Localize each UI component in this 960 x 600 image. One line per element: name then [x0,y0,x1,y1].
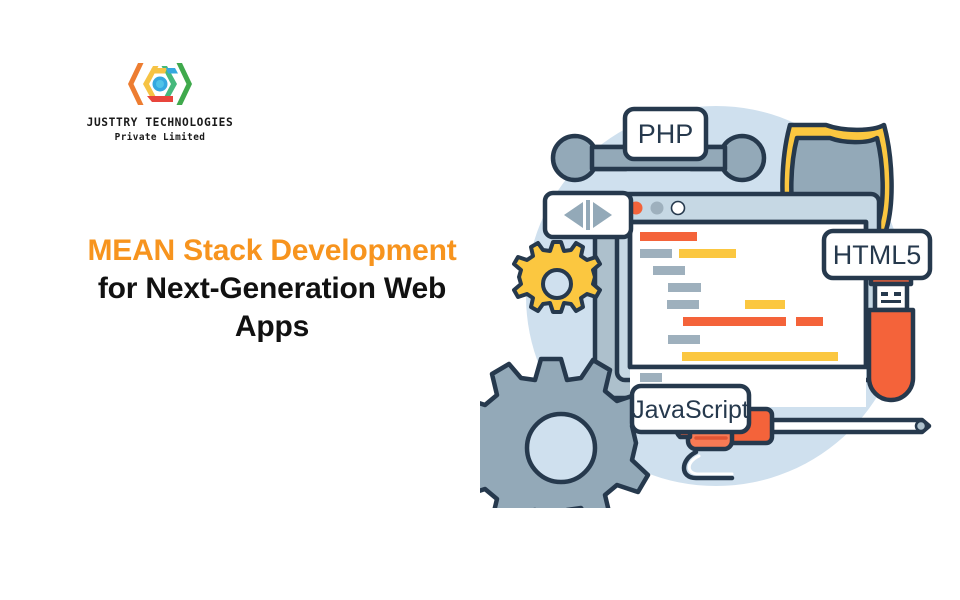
html5-label-text: HTML5 [833,240,922,270]
left-content-column: JUSTTRY TECHNOLOGIES Private Limited MEA… [0,0,500,600]
headline-line-1: MEAN Stack Development [87,234,456,267]
page-title: MEAN Stack Development for Next-Generati… [62,232,482,346]
headline-line-3: Apps [235,310,309,343]
brand-subtitle: Private Limited [115,132,206,143]
javascript-label-text: JavaScript [632,396,749,424]
web-development-illustration: PHP HTML5 JavaScript [480,88,950,508]
brand-logo-block[interactable]: JUSTTRY TECHNOLOGIES Private Limited [70,58,250,143]
hexagon-chevrons-logo-icon [123,58,197,110]
window-traffic-lights [630,202,685,215]
headline-line-2: for Next-Generation Web [98,272,446,305]
php-label-text: PHP [638,119,694,149]
code-brackets-icon-shape [545,193,631,237]
brand-name: JUSTTRY TECHNOLOGIES [87,116,234,129]
illustration-svg: PHP HTML5 JavaScript [480,88,950,508]
window-dot-white [672,202,685,215]
window-dot-gray [651,202,664,215]
banner-root: JUSTTRY TECHNOLOGIES Private Limited MEA… [0,0,960,600]
